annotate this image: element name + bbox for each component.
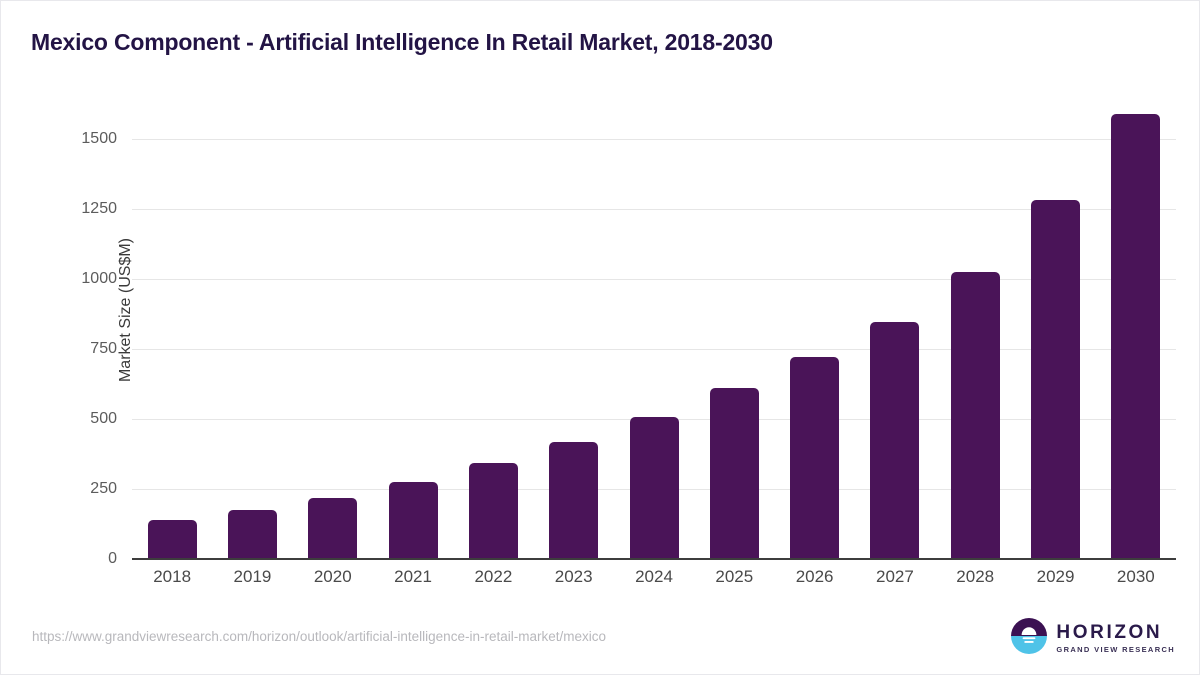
bars-layer <box>132 97 1176 559</box>
bar-2022[interactable] <box>469 463 518 559</box>
y-tick-label: 1250 <box>57 200 117 218</box>
bar-2024[interactable] <box>630 417 679 559</box>
y-tick-label: 500 <box>57 410 117 428</box>
bar-2030[interactable] <box>1111 114 1160 559</box>
x-tick-label-2018: 2018 <box>132 567 212 587</box>
source-url[interactable]: https://www.grandviewresearch.com/horizo… <box>32 629 606 644</box>
x-tick-label-2025: 2025 <box>694 567 774 587</box>
x-tick-label-2023: 2023 <box>534 567 614 587</box>
bar-2027[interactable] <box>870 322 919 559</box>
chart-page: Mexico Component - Artificial Intelligen… <box>0 0 1200 675</box>
x-tick-label-2019: 2019 <box>212 567 292 587</box>
bar-2025[interactable] <box>710 388 759 559</box>
y-axis-tick-labels: 0250500750100012501500 <box>47 97 117 559</box>
bar-2026[interactable] <box>790 357 839 559</box>
x-tick-label-2026: 2026 <box>775 567 855 587</box>
horizon-logo-icon <box>1011 618 1047 659</box>
logo-wordmark: HORIZON <box>1056 623 1175 642</box>
y-tick-label: 250 <box>57 480 117 498</box>
y-tick-label: 750 <box>57 340 117 358</box>
horizon-logo-text: HORIZON GRAND VIEW RESEARCH <box>1056 623 1175 654</box>
x-tick-label-2020: 2020 <box>293 567 373 587</box>
bar-2023[interactable] <box>549 442 598 559</box>
x-tick-label-2030: 2030 <box>1096 567 1176 587</box>
x-tick-label-2028: 2028 <box>935 567 1015 587</box>
bar-2028[interactable] <box>951 272 1000 559</box>
bar-2021[interactable] <box>389 482 438 559</box>
x-axis-line <box>132 558 1176 560</box>
x-axis-tick-labels: 2018201920202021202220232024202520262027… <box>132 567 1176 597</box>
bar-2029[interactable] <box>1031 200 1080 559</box>
y-tick-label: 1500 <box>57 130 117 148</box>
y-tick-label: 1000 <box>57 270 117 288</box>
y-tick-label: 0 <box>57 550 117 568</box>
bar-2020[interactable] <box>308 498 357 559</box>
bar-2019[interactable] <box>228 510 277 559</box>
x-tick-label-2022: 2022 <box>453 567 533 587</box>
page-title: Mexico Component - Artificial Intelligen… <box>31 29 773 56</box>
x-tick-label-2029: 2029 <box>1016 567 1096 587</box>
horizon-logo[interactable]: HORIZON GRAND VIEW RESEARCH <box>1011 618 1175 659</box>
logo-tagline: GRAND VIEW RESEARCH <box>1056 646 1175 654</box>
x-tick-label-2027: 2027 <box>855 567 935 587</box>
x-tick-label-2024: 2024 <box>614 567 694 587</box>
bar-2018[interactable] <box>148 520 197 559</box>
x-tick-label-2021: 2021 <box>373 567 453 587</box>
